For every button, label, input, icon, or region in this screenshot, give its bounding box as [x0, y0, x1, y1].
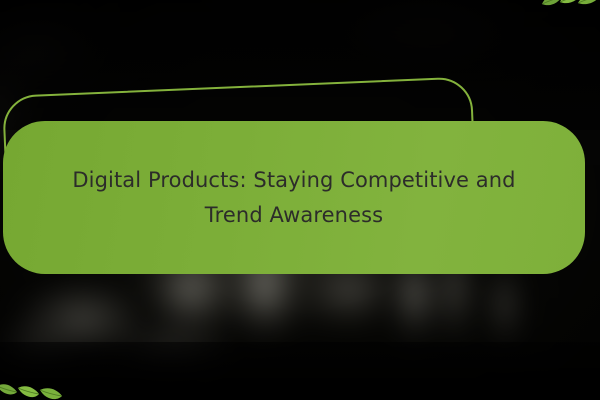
leaf-icon-2 — [18, 386, 39, 397]
leaf-icon-1 — [542, 0, 562, 5]
leaf-cluster-top-right — [540, 0, 600, 14]
leaf-icon-1 — [0, 384, 17, 394]
page-title: Digital Products: Staying Competitive an… — [57, 163, 531, 231]
leaf-icon-3 — [578, 0, 600, 4]
slide-canvas: Digital Products: Staying Competitive an… — [0, 0, 600, 400]
title-banner: Digital Products: Staying Competitive an… — [3, 121, 585, 274]
leaf-icon-3 — [40, 388, 62, 399]
leaf-cluster-bottom-left — [0, 378, 66, 400]
leaf-icon-2 — [560, 0, 581, 3]
